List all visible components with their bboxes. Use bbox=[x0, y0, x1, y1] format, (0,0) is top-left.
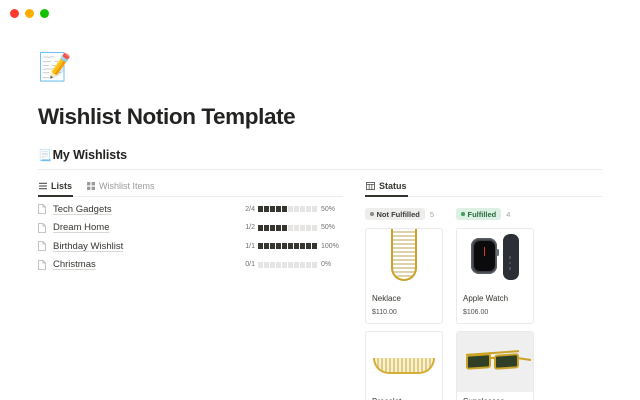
card-title: Apple Watch bbox=[463, 294, 527, 303]
sunglasses-image bbox=[457, 332, 533, 392]
row-percent: 100% bbox=[321, 243, 343, 250]
row-percent: 50% bbox=[321, 224, 343, 231]
row-percent: 0% bbox=[321, 261, 343, 268]
card-image bbox=[457, 229, 533, 289]
list-icon bbox=[39, 182, 47, 190]
card-body: Bracelet $15.95 bbox=[366, 392, 442, 400]
card-body: Sunglasses $182.00 bbox=[457, 392, 533, 400]
card-image bbox=[366, 229, 442, 289]
row-fraction: 2/4 bbox=[245, 206, 255, 213]
tab-lists-label: Lists bbox=[51, 181, 72, 191]
page-icon bbox=[38, 241, 53, 251]
section-divider bbox=[38, 169, 602, 170]
tab-wishlist-items-label: Wishlist Items bbox=[99, 181, 155, 191]
page-title: Wishlist Notion Template bbox=[38, 104, 602, 130]
table-row[interactable]: Christmas 0/1 0% bbox=[38, 256, 343, 275]
window-titlebar bbox=[0, 0, 640, 26]
apple-watch-image bbox=[457, 229, 533, 289]
minimize-button[interactable] bbox=[25, 9, 34, 18]
progress-bar bbox=[258, 243, 317, 249]
necklace-image bbox=[366, 229, 442, 289]
progress-bar bbox=[258, 225, 317, 231]
progress-bar bbox=[258, 262, 317, 268]
board-column-not-fulfilled: Not Fulfilled 5 Neklace $110.00 bbox=[365, 207, 443, 400]
column-count: 4 bbox=[506, 210, 510, 219]
card-body: Apple Watch $106.00 bbox=[457, 289, 533, 323]
row-title[interactable]: Tech Gadgets bbox=[53, 204, 112, 215]
card-price: $110.00 bbox=[372, 309, 436, 316]
page-content: 📝 Wishlist Notion Template 📃 My Wishlist… bbox=[0, 51, 640, 400]
status-badge-label: Fulfilled bbox=[468, 210, 497, 219]
column-count: 5 bbox=[430, 210, 434, 219]
status-badge[interactable]: Not Fulfilled bbox=[365, 208, 425, 220]
lists-panel: Lists Wishlist Items bbox=[38, 179, 343, 400]
board-column-fulfilled: Fulfilled 4 bbox=[456, 207, 534, 400]
tab-wishlist-items[interactable]: Wishlist Items bbox=[86, 179, 156, 196]
tab-status[interactable]: Status bbox=[365, 179, 408, 196]
status-dot-icon bbox=[370, 212, 374, 216]
maximize-button[interactable] bbox=[40, 9, 49, 18]
page-emoji-icon[interactable]: 📝 bbox=[38, 51, 72, 83]
card-image bbox=[366, 332, 442, 392]
board-card[interactable]: Sunglasses $182.00 bbox=[456, 331, 534, 400]
row-title[interactable]: Christmas bbox=[53, 259, 96, 270]
row-percent: 50% bbox=[321, 206, 343, 213]
row-fraction: 1/1 bbox=[245, 243, 255, 250]
status-badge[interactable]: Fulfilled bbox=[456, 208, 501, 220]
column-header: Not Fulfilled 5 bbox=[365, 207, 443, 221]
board-icon bbox=[366, 182, 375, 190]
tab-status-label: Status bbox=[379, 181, 407, 191]
close-button[interactable] bbox=[10, 9, 19, 18]
bracelet-image bbox=[366, 332, 442, 392]
section-heading: 📃 My Wishlists bbox=[38, 148, 602, 162]
status-board-panel: Status Not Fulfilled 5 bbox=[343, 179, 602, 400]
status-badge-label: Not Fulfilled bbox=[377, 210, 420, 219]
card-image bbox=[457, 332, 533, 392]
card-body: Neklace $110.00 bbox=[366, 289, 442, 323]
board-tabbar: Status bbox=[365, 179, 602, 197]
row-fraction: 0/1 bbox=[245, 261, 255, 268]
card-title: Neklace bbox=[372, 294, 436, 303]
memo-icon: 📃 bbox=[38, 149, 52, 162]
tab-lists[interactable]: Lists bbox=[38, 179, 73, 196]
grid-icon bbox=[87, 182, 95, 190]
page-icon bbox=[38, 223, 53, 233]
window-controls bbox=[10, 9, 49, 18]
board-card[interactable]: Neklace $110.00 bbox=[365, 228, 443, 324]
board-card[interactable]: Bracelet $15.95 bbox=[365, 331, 443, 400]
column-header: Fulfilled 4 bbox=[456, 207, 534, 221]
section-heading-label: My Wishlists bbox=[53, 148, 127, 162]
page-icon bbox=[38, 204, 53, 214]
lists-tabbar: Lists Wishlist Items bbox=[38, 179, 343, 197]
card-price: $106.00 bbox=[463, 309, 527, 316]
page-icon bbox=[38, 260, 53, 270]
row-title[interactable]: Birthday Wishlist bbox=[53, 241, 123, 252]
row-title[interactable]: Dream Home bbox=[53, 222, 110, 233]
table-row[interactable]: Tech Gadgets 2/4 50% bbox=[38, 200, 343, 219]
columns-layout: Lists Wishlist Items bbox=[38, 179, 602, 400]
row-fraction: 1/2 bbox=[245, 224, 255, 231]
wishlist-rows: Tech Gadgets 2/4 50% bbox=[38, 200, 343, 274]
table-row[interactable]: Birthday Wishlist 1/1 100% bbox=[38, 237, 343, 256]
status-dot-icon bbox=[461, 212, 465, 216]
board-card[interactable]: Apple Watch $106.00 bbox=[456, 228, 534, 324]
board-columns: Not Fulfilled 5 Neklace $110.00 bbox=[365, 207, 602, 400]
table-row[interactable]: Dream Home 1/2 50% bbox=[38, 219, 343, 238]
progress-bar bbox=[258, 206, 317, 212]
